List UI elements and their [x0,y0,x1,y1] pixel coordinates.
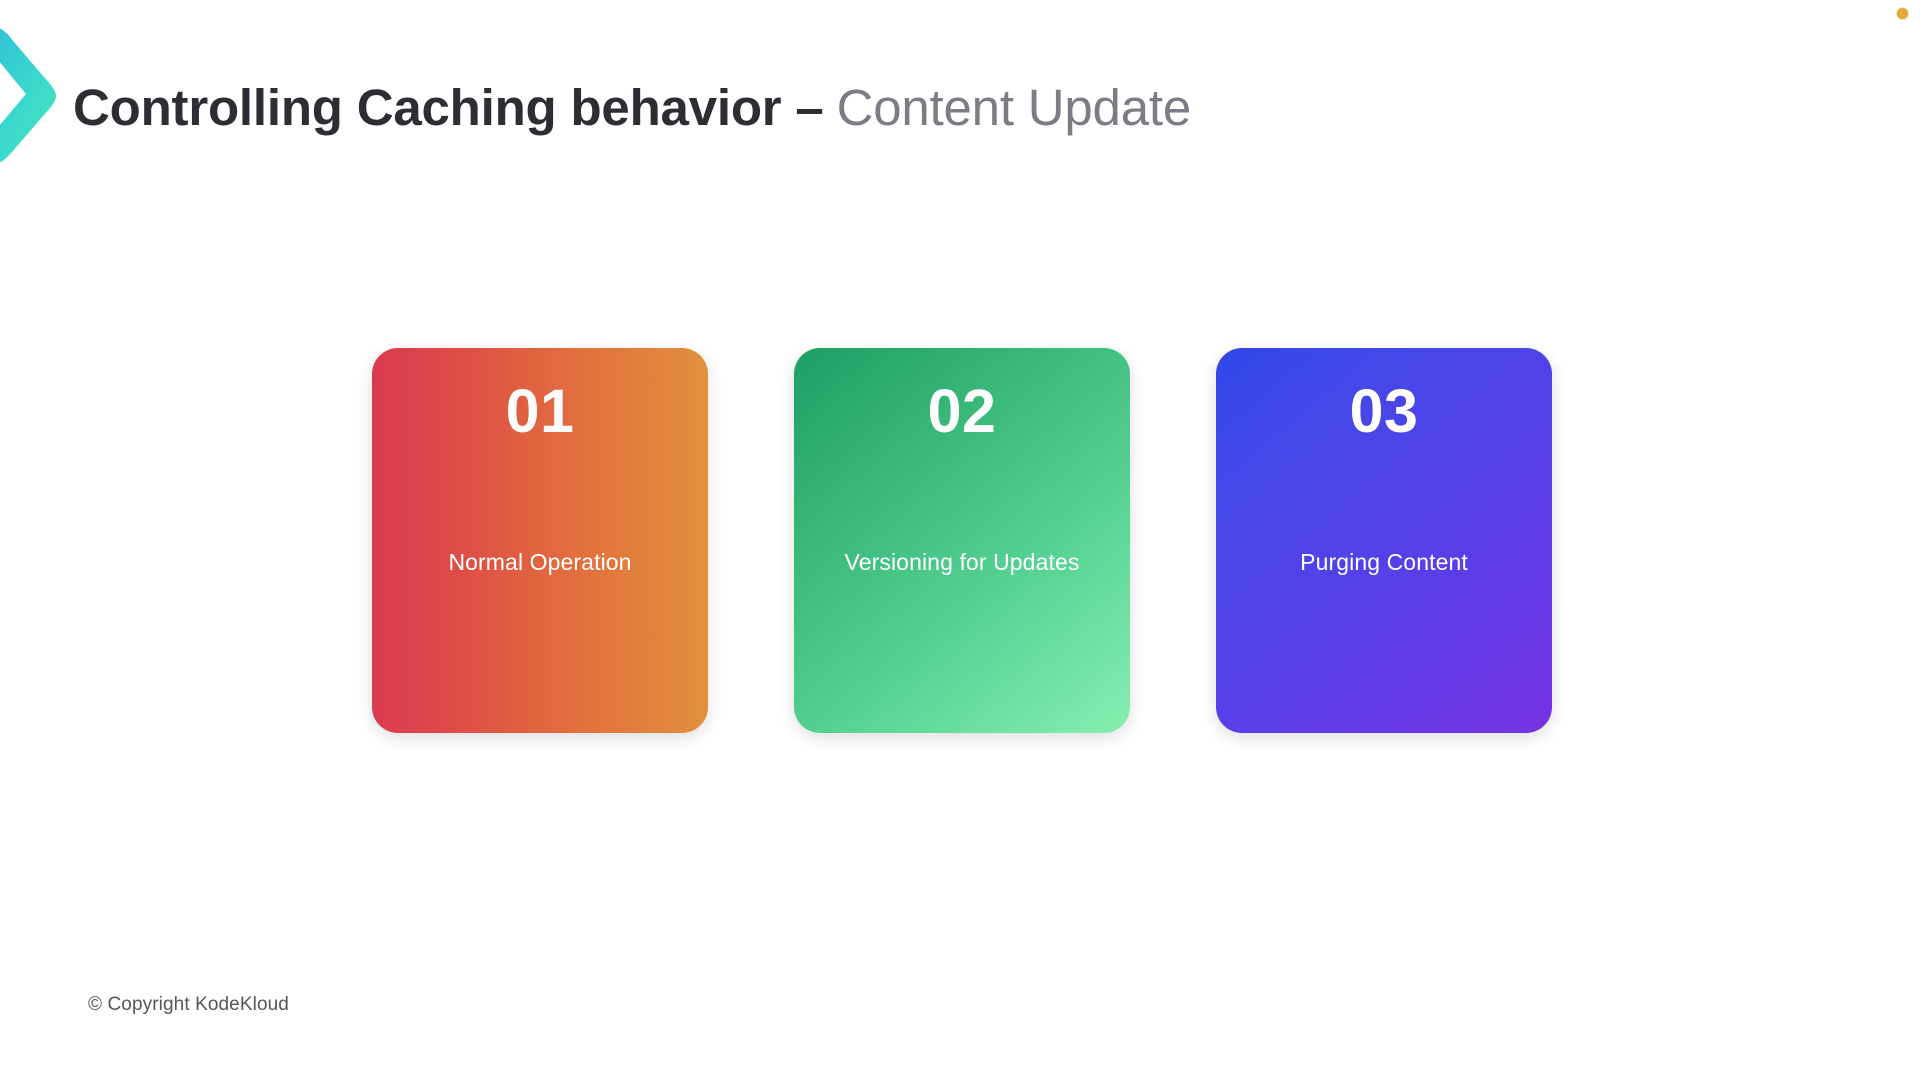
accent-dot-icon [1897,8,1908,19]
page-title-main: Controlling Caching behavior – [73,82,824,133]
card-label: Purging Content [1230,548,1538,577]
kodekloud-chevron-logo-icon [0,22,68,162]
footer-copyright: © Copyright KodeKloud [88,994,289,1016]
card-number: 01 [372,378,708,445]
card-purging-content[interactable]: 03 Purging Content [1216,348,1552,733]
card-number: 02 [794,378,1130,445]
slide-canvas: Controlling Caching behavior – Content U… [0,0,1920,1080]
card-number: 03 [1216,378,1552,445]
page-title: Controlling Caching behavior – Content U… [73,72,1191,142]
card-label: Normal Operation [386,548,694,577]
card-group: 01 Normal Operation 02 Versioning for Up… [372,348,1548,733]
card-label: Versioning for Updates [808,548,1116,577]
page-title-highlight: Content Update [837,82,1191,133]
card-normal-operation[interactable]: 01 Normal Operation [372,348,708,733]
card-versioning-for-updates[interactable]: 02 Versioning for Updates [794,348,1130,733]
